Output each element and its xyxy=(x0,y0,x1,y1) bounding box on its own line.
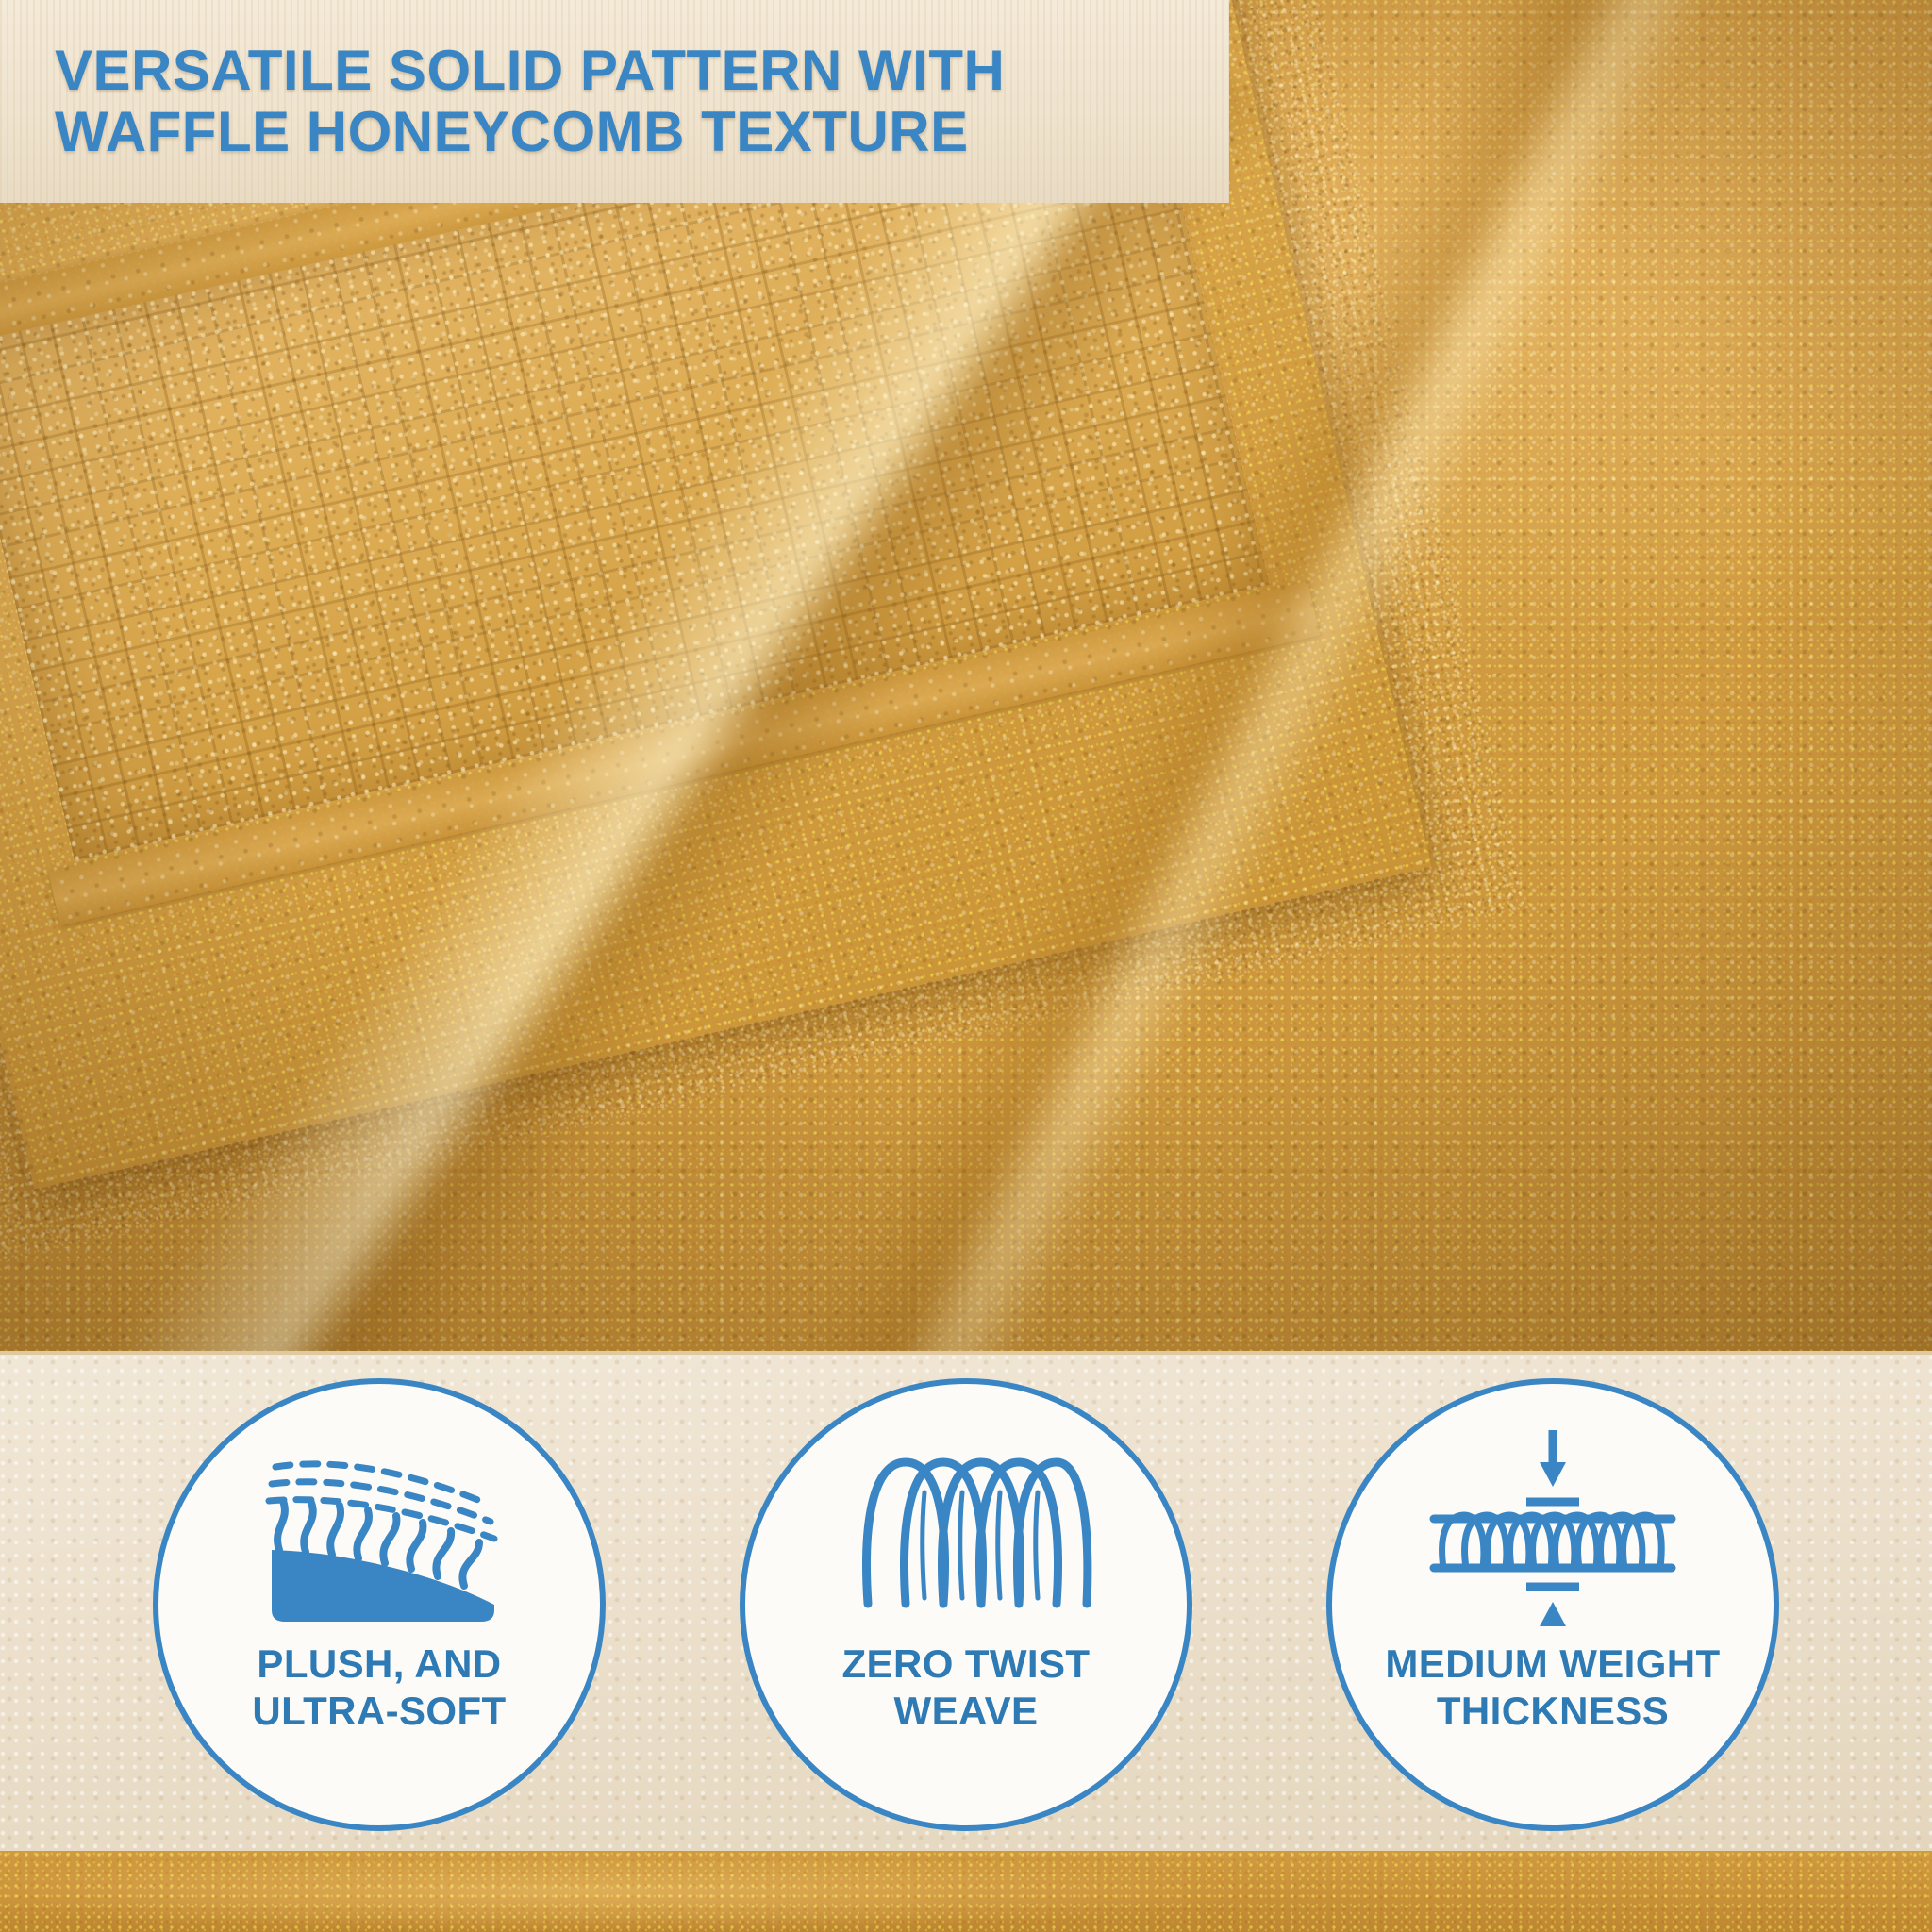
plush-fiber-loops-icon xyxy=(238,1425,521,1631)
feature-badge-zero-twist[interactable]: ZERO TWIST WEAVE xyxy=(740,1378,1192,1831)
headline-text: VERSATILE SOLID PATTERN WITH WAFFLE HONE… xyxy=(55,41,1005,163)
feature-label-thickness: MEDIUM WEIGHT THICKNESS xyxy=(1385,1641,1720,1734)
thickness-compression-arrows-icon xyxy=(1402,1425,1704,1631)
feature-badge-plush[interactable]: PLUSH, AND ULTRA-SOFT xyxy=(153,1378,606,1831)
bottom-towel-strip xyxy=(0,1851,1932,1932)
feature-label-zero-twist: ZERO TWIST WEAVE xyxy=(842,1641,1091,1734)
feature-badge-band: PLUSH, AND ULTRA-SOFT xyxy=(0,1351,1932,1855)
product-marketing-image: VERSATILE SOLID PATTERN WITH WAFFLE HONE… xyxy=(0,0,1932,1932)
feature-label-plush: PLUSH, AND ULTRA-SOFT xyxy=(252,1641,506,1734)
zero-twist-yarn-loops-icon xyxy=(824,1425,1108,1631)
headline-panel: VERSATILE SOLID PATTERN WITH WAFFLE HONE… xyxy=(0,0,1229,203)
feature-badge-thickness[interactable]: MEDIUM WEIGHT THICKNESS xyxy=(1326,1378,1779,1831)
bottom-strip-terry-texture xyxy=(0,1851,1932,1932)
